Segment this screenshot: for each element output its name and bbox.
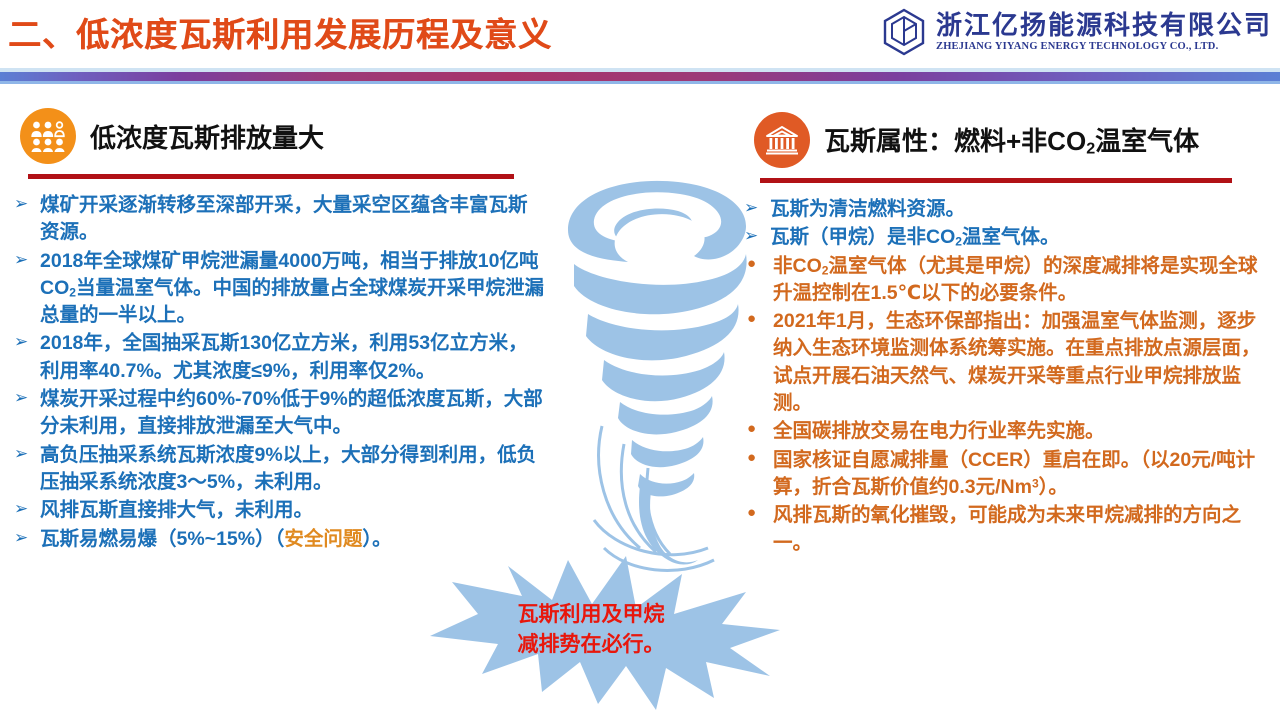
list-item-text: 2018年，全国抽采瓦斯130亿立方米，利用53亿立方米，利用率40.7%。尤其…	[40, 330, 544, 385]
list-item: ●国家核证自愿减排量（CCER）重启在即。（以20元/吨计算，折合瓦斯价值约0.…	[744, 447, 1264, 502]
list-item-text: 2021年1月，生态环保部指出：加强温室气体监测，逐步纳入生态环境监测体系统筹实…	[773, 308, 1264, 417]
list-item: ●非CO2温室气体（尤其是甲烷）的深度减排将是实现全球升温控制在1.5℃以下的必…	[744, 253, 1264, 308]
hexagon-logo-icon	[882, 8, 926, 56]
arrow-bullet-icon: ➢	[14, 386, 40, 410]
list-item: ●风排瓦斯的氧化摧毁，可能成为未来甲烷减排的方向之一。	[744, 502, 1264, 557]
list-item: ➢瓦斯易燃易爆（5%~15%）（安全问题）。	[14, 526, 544, 553]
list-item: ➢煤矿开采逐渐转移至深部开采，大量采空区蕴含丰富瓦斯资源。	[14, 192, 544, 247]
arrow-bullet-icon: ➢	[14, 330, 40, 354]
arrow-bullet-icon: ➢	[14, 526, 40, 550]
arrow-bullet-icon: ➢	[14, 192, 40, 216]
right-section-underline	[760, 178, 1232, 183]
arrow-bullet-icon: ➢	[14, 442, 40, 466]
list-item-text: 煤矿开采逐渐转移至深部开采，大量采空区蕴含丰富瓦斯资源。	[40, 192, 544, 247]
right-section-header: 瓦斯属性：燃料+非CO2温室气体	[754, 112, 1199, 168]
right-section-title: 瓦斯属性：燃料+非CO2温室气体	[824, 121, 1199, 159]
list-item-text: 2018年全球煤矿甲烷泄漏量4000万吨，相当于排放10亿吨CO2当量温室气体。…	[40, 248, 544, 330]
list-item: ➢2018年，全国抽采瓦斯130亿立方米，利用53亿立方米，利用率40.7%。尤…	[14, 330, 544, 385]
header-divider	[0, 72, 1280, 81]
list-item-text: 瓦斯（甲烷）是非CO2温室气体。	[770, 224, 1264, 251]
left-section-title: 低浓度瓦斯排放量大	[90, 118, 324, 155]
left-section-header: 低浓度瓦斯排放量大	[20, 108, 324, 164]
list-item-text: 瓦斯易燃易爆（5%~15%）（安全问题）。	[40, 526, 544, 553]
list-item-text: 高负压抽采系统瓦斯浓度9%以上，大部分得到利用，低负压抽采系统浓度3～5%，未利…	[40, 442, 544, 497]
callout-text: 瓦斯利用及甲烷 减排势在必行。	[466, 600, 716, 661]
header-divider-bottom	[0, 81, 1280, 84]
list-item: ➢2018年全球煤矿甲烷泄漏量4000万吨，相当于排放10亿吨CO2当量温室气体…	[14, 248, 544, 330]
list-item: ➢煤炭开采过程中约60%-70%低于9%的超低浓度瓦斯，大部分未利用，直接排放泄…	[14, 386, 544, 441]
logo-company-en: ZHEJIANG YIYANG ENERGY TECHNOLOGY CO., L…	[936, 42, 1272, 53]
list-item-text: 风排瓦斯直接排大气，未利用。	[40, 497, 544, 524]
logo-company-cn: 浙江亿扬能源科技有限公司	[936, 12, 1272, 38]
people-group-icon	[20, 108, 76, 164]
list-item: ➢瓦斯（甲烷）是非CO2温室气体。	[744, 224, 1264, 251]
list-item-text: 煤炭开采过程中约60%-70%低于9%的超低浓度瓦斯，大部分未利用，直接排放泄漏…	[40, 386, 544, 441]
list-item: ➢风排瓦斯直接排大气，未利用。	[14, 497, 544, 524]
page-title: 二、低浓度瓦斯利用发展历程及意义	[8, 8, 552, 56]
list-item: ●全国碳排放交易在电力行业率先实施。	[744, 418, 1264, 445]
company-logo: 浙江亿扬能源科技有限公司 ZHEJIANG YIYANG ENERGY TECH…	[882, 8, 1272, 56]
tornado-swirl-icon	[528, 168, 778, 598]
list-item: ➢瓦斯为清洁燃料资源。	[744, 196, 1264, 223]
list-item-text: 非CO2温室气体（尤其是甲烷）的深度减排将是实现全球升温控制在1.5℃以下的必要…	[773, 253, 1264, 308]
list-item-text: 瓦斯为清洁燃料资源。	[770, 196, 1264, 223]
right-bullet-list: ➢瓦斯为清洁燃料资源。➢瓦斯（甲烷）是非CO2温室气体。●非CO2温室气体（尤其…	[744, 196, 1264, 558]
bank-building-icon	[754, 112, 810, 168]
arrow-bullet-icon: ➢	[14, 497, 40, 521]
list-item-text: 风排瓦斯的氧化摧毁，可能成为未来甲烷减排的方向之一。	[773, 502, 1264, 557]
arrow-bullet-icon: ➢	[14, 248, 40, 272]
list-item: ●2021年1月，生态环保部指出：加强温室气体监测，逐步纳入生态环境监测体系统筹…	[744, 308, 1264, 417]
list-item: ➢高负压抽采系统瓦斯浓度9%以上，大部分得到利用，低负压抽采系统浓度3～5%，未…	[14, 442, 544, 497]
list-item-text: 国家核证自愿减排量（CCER）重启在即。（以20元/吨计算，折合瓦斯价值约0.3…	[773, 447, 1264, 502]
left-bullet-list: ➢煤矿开采逐渐转移至深部开采，大量采空区蕴含丰富瓦斯资源。➢2018年全球煤矿甲…	[14, 192, 544, 554]
left-section-underline	[28, 174, 514, 179]
list-item-text: 全国碳排放交易在电力行业率先实施。	[773, 418, 1264, 445]
